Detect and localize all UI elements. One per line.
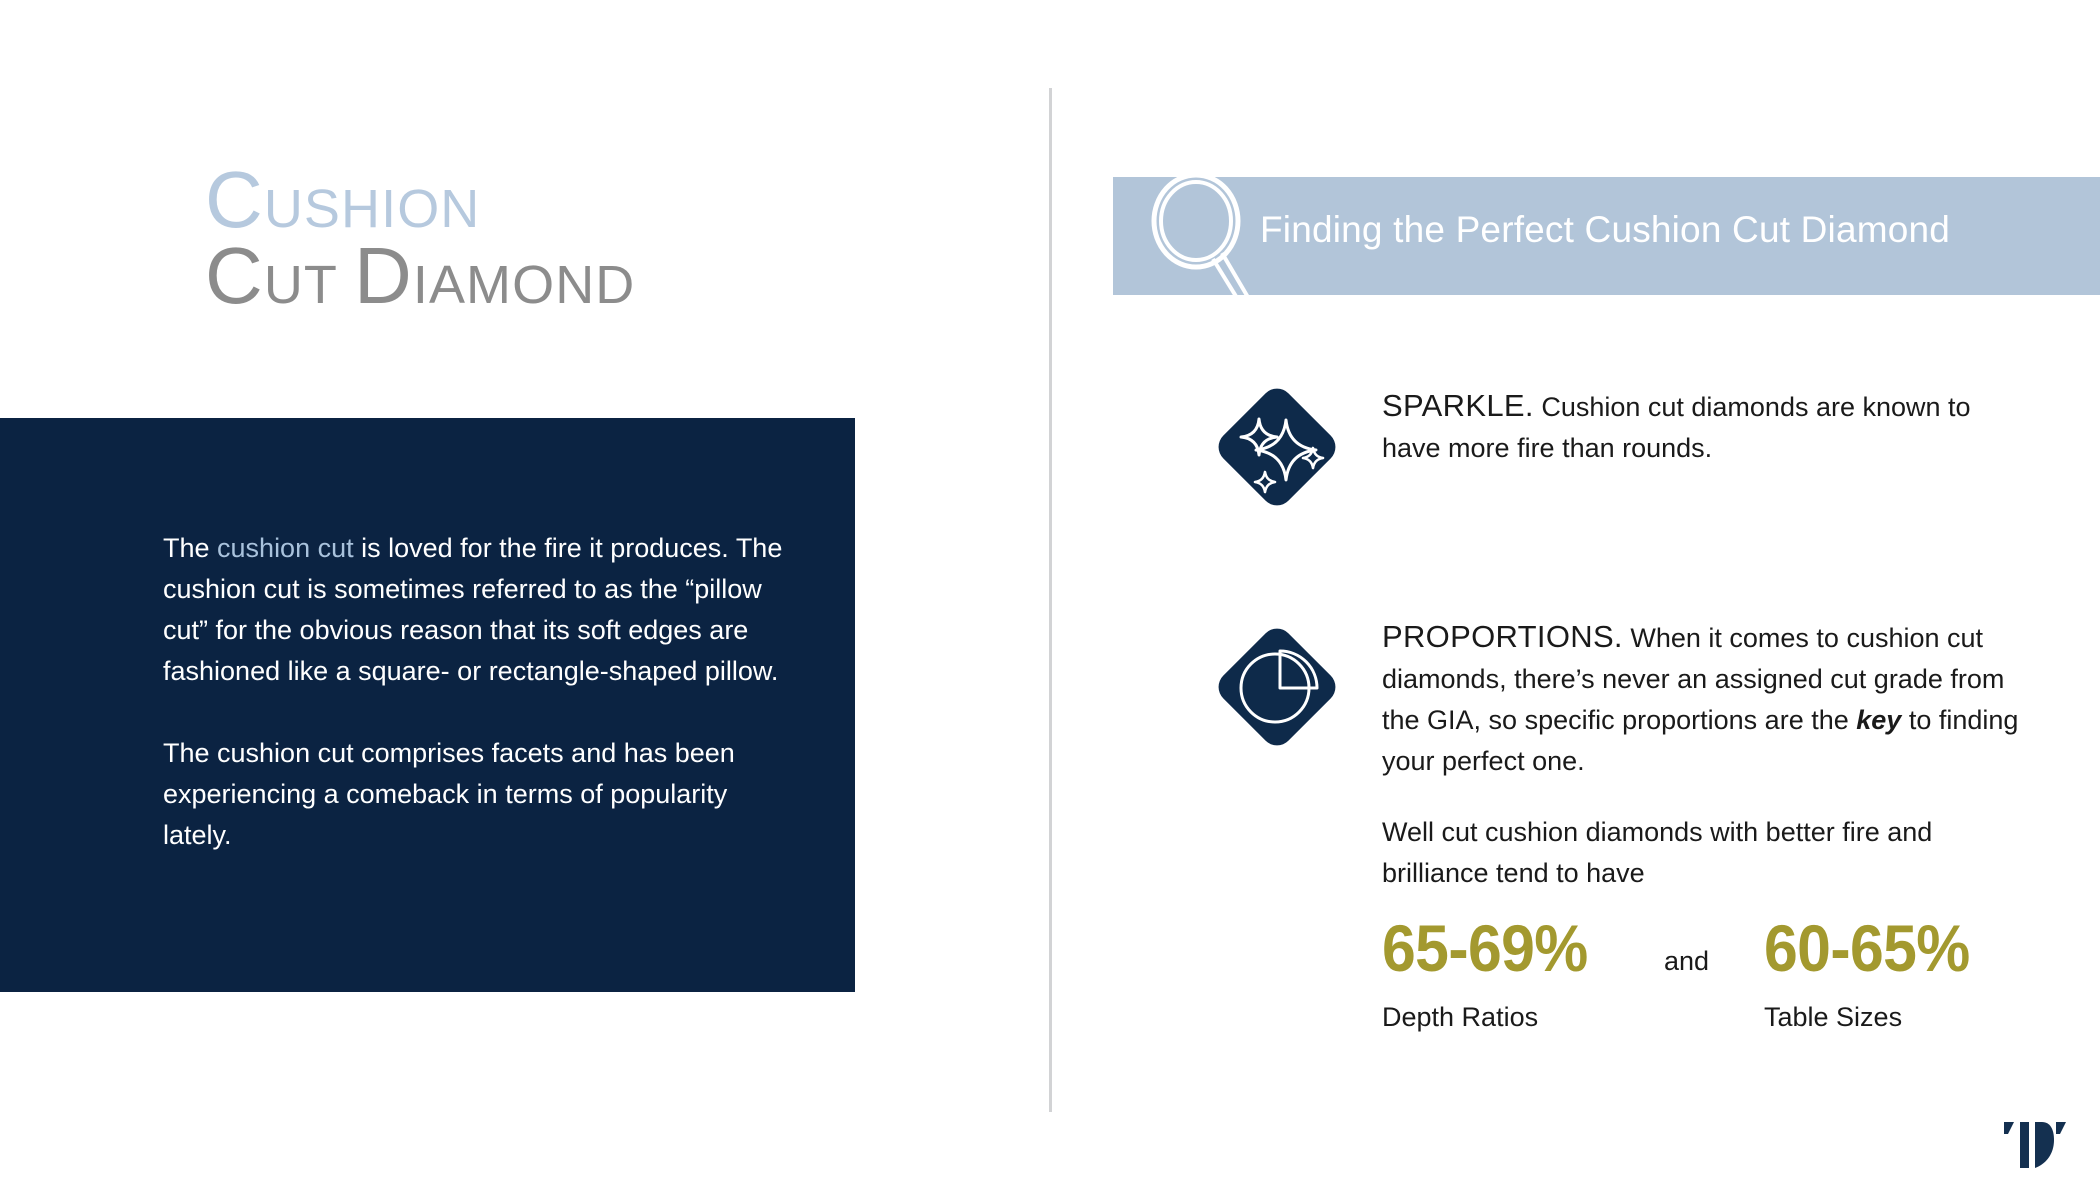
proportions-badge [1212, 622, 1342, 752]
slide-canvas: CUSHION CUTDIAMOND The cushion cut is lo… [0, 0, 2100, 1200]
pie-chart-diamond-icon [1212, 622, 1342, 752]
proportions-feature-text: PROPORTIONS. When it comes to cushion cu… [1382, 616, 2042, 782]
intro-panel: The cushion cut is loved for the fire it… [0, 418, 855, 992]
stat-depth-label: Depth Ratios [1382, 1000, 1606, 1034]
title-cap-d: D [354, 231, 413, 320]
stat-table-sizes: 60-65% Table Sizes [1764, 912, 1988, 1034]
intro-paragraph-2: The cushion cut comprises facets and has… [163, 733, 803, 856]
sparkle-feature-text: SPARKLE. Cushion cut diamonds are known … [1382, 385, 2032, 469]
intro-paragraph-1: The cushion cut is loved for the fire it… [163, 528, 803, 692]
title-rest-ut: UT [264, 255, 338, 315]
brand-monogram-logo [1998, 1116, 2068, 1172]
stat-depth-ratios: 65-69% Depth Ratios [1382, 912, 1606, 1034]
intro-p1-highlight: cushion cut [217, 533, 354, 563]
page-title: CUSHION CUTDIAMOND [205, 182, 905, 312]
stat-table-value: 60-65% [1764, 912, 1970, 984]
column-divider [1049, 88, 1052, 1112]
stats-row: 65-69% Depth Ratios and 60-65% Table Siz… [1382, 912, 2062, 1042]
wellcut-description: Well cut cushion diamonds with better fi… [1382, 812, 2042, 894]
sparkle-lead: SPARKLE. [1382, 388, 1534, 423]
title-line-cushion: CUSHION [205, 182, 905, 236]
title-rest-iamond: IAMOND [413, 255, 635, 315]
proportions-emphasis: key [1856, 705, 1901, 735]
sparkle-stars-glyph [1212, 382, 1342, 512]
sparkle-badge [1212, 382, 1342, 512]
title-rest-ushion: USHION [264, 179, 481, 239]
stat-table-label: Table Sizes [1764, 1000, 1988, 1034]
section-header-title: Finding the Perfect Cushion Cut Diamond [1260, 209, 1950, 251]
stat-depth-value: 65-69% [1382, 912, 1588, 984]
intro-panel-text: The cushion cut is loved for the fire it… [163, 528, 803, 856]
title-cap-c2: C [205, 231, 264, 320]
stats-conjunction: and [1664, 946, 1709, 977]
sparkle-diamond-icon [1212, 382, 1342, 512]
pie-chart-glyph [1212, 622, 1342, 752]
intro-p1-pre: The [163, 533, 217, 563]
title-line-cut-diamond: CUTDIAMOND [205, 258, 905, 312]
paragraph-spacer [163, 692, 803, 733]
proportions-lead: PROPORTIONS. [1382, 619, 1623, 654]
